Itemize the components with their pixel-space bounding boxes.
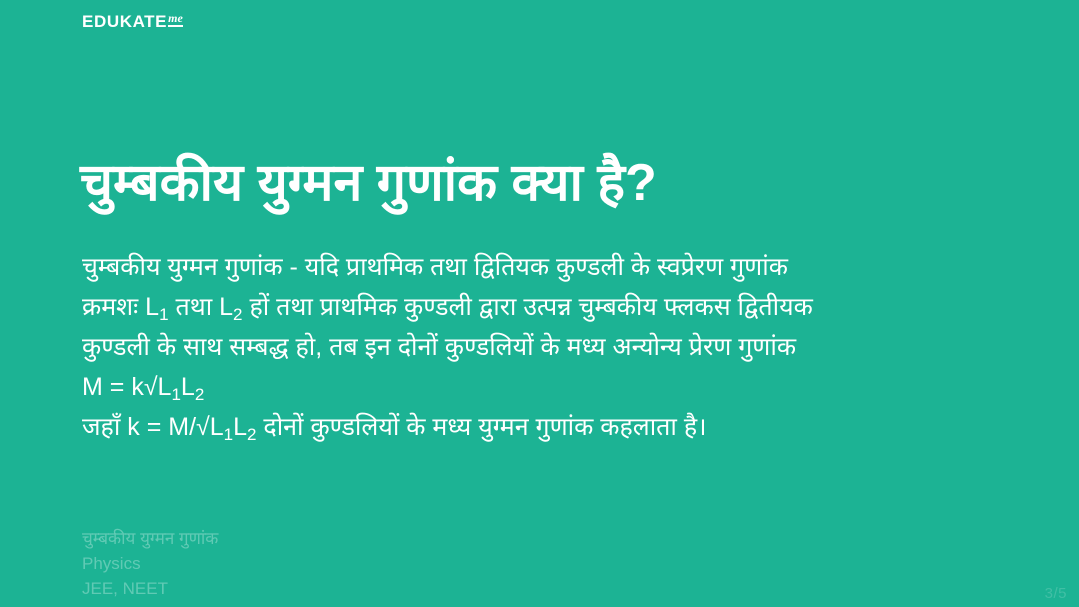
footer-subject: Physics xyxy=(82,551,218,576)
footer-topic: चुम्बकीय युग्मन गुणांक xyxy=(82,526,218,551)
formula-text: L xyxy=(233,413,247,441)
slide-title: चुम्बकीय युग्मन गुणांक क्या है? xyxy=(80,153,1010,214)
subscript: 2 xyxy=(195,385,204,404)
body-text: चुम्बकीय युग्मन गुणांक - यदि प्राथमिक तथ… xyxy=(82,253,788,281)
subscript: 1 xyxy=(224,425,233,444)
logo-suffix-me: me xyxy=(168,12,183,27)
formula-text: L xyxy=(145,293,159,321)
body-line-line1: चुम्बकीय युग्मन गुणांक - यदि प्राथमिक तथ… xyxy=(82,247,982,287)
subscript: 1 xyxy=(159,305,168,324)
formula-text: L xyxy=(181,373,195,401)
body-text: क्रमशः xyxy=(82,293,145,321)
page-number: 3/5 xyxy=(1045,585,1067,602)
body-line-line2: क्रमशः L1 तथा L2 हों तथा प्राथमिक कुण्डल… xyxy=(82,287,982,327)
body-line-line5: जहाँ k = M/√L1L2 दोनों कुण्डलियों के मध्… xyxy=(82,407,982,447)
slide-canvas: EDUKATE me चुम्बकीय युग्मन गुणांक क्या ह… xyxy=(0,0,1079,607)
slide-footer: चुम्बकीय युग्मन गुणांक Physics JEE, NEET xyxy=(82,526,218,601)
body-text: हों तथा प्राथमिक कुण्डली द्वारा उत्पन्न … xyxy=(243,293,813,321)
formula-text: L xyxy=(219,293,233,321)
subscript: 2 xyxy=(233,305,242,324)
subscript: 1 xyxy=(171,385,180,404)
slide-body: चुम्बकीय युग्मन गुणांक - यदि प्राथमिक तथ… xyxy=(82,247,982,447)
formula-text: k = M/√L xyxy=(127,413,223,441)
body-line-line3: कुण्डली के साथ सम्बद्ध हो, तब इन दोनों क… xyxy=(82,327,982,367)
body-text: दोनों कुण्डलियों के मध्य युग्मन गुणांक क… xyxy=(256,413,706,441)
body-text: जहाँ xyxy=(82,413,127,441)
edukate-logo: EDUKATE me xyxy=(82,13,183,30)
body-text: तथा xyxy=(169,293,220,321)
body-text: कुण्डली के साथ सम्बद्ध हो, तब इन दोनों क… xyxy=(82,333,796,361)
body-line-line4: M = k√L1L2 xyxy=(82,367,982,407)
footer-exams: JEE, NEET xyxy=(82,576,218,601)
formula-text: M = k√L xyxy=(82,373,171,401)
logo-wordmark: EDUKATE xyxy=(82,13,167,30)
